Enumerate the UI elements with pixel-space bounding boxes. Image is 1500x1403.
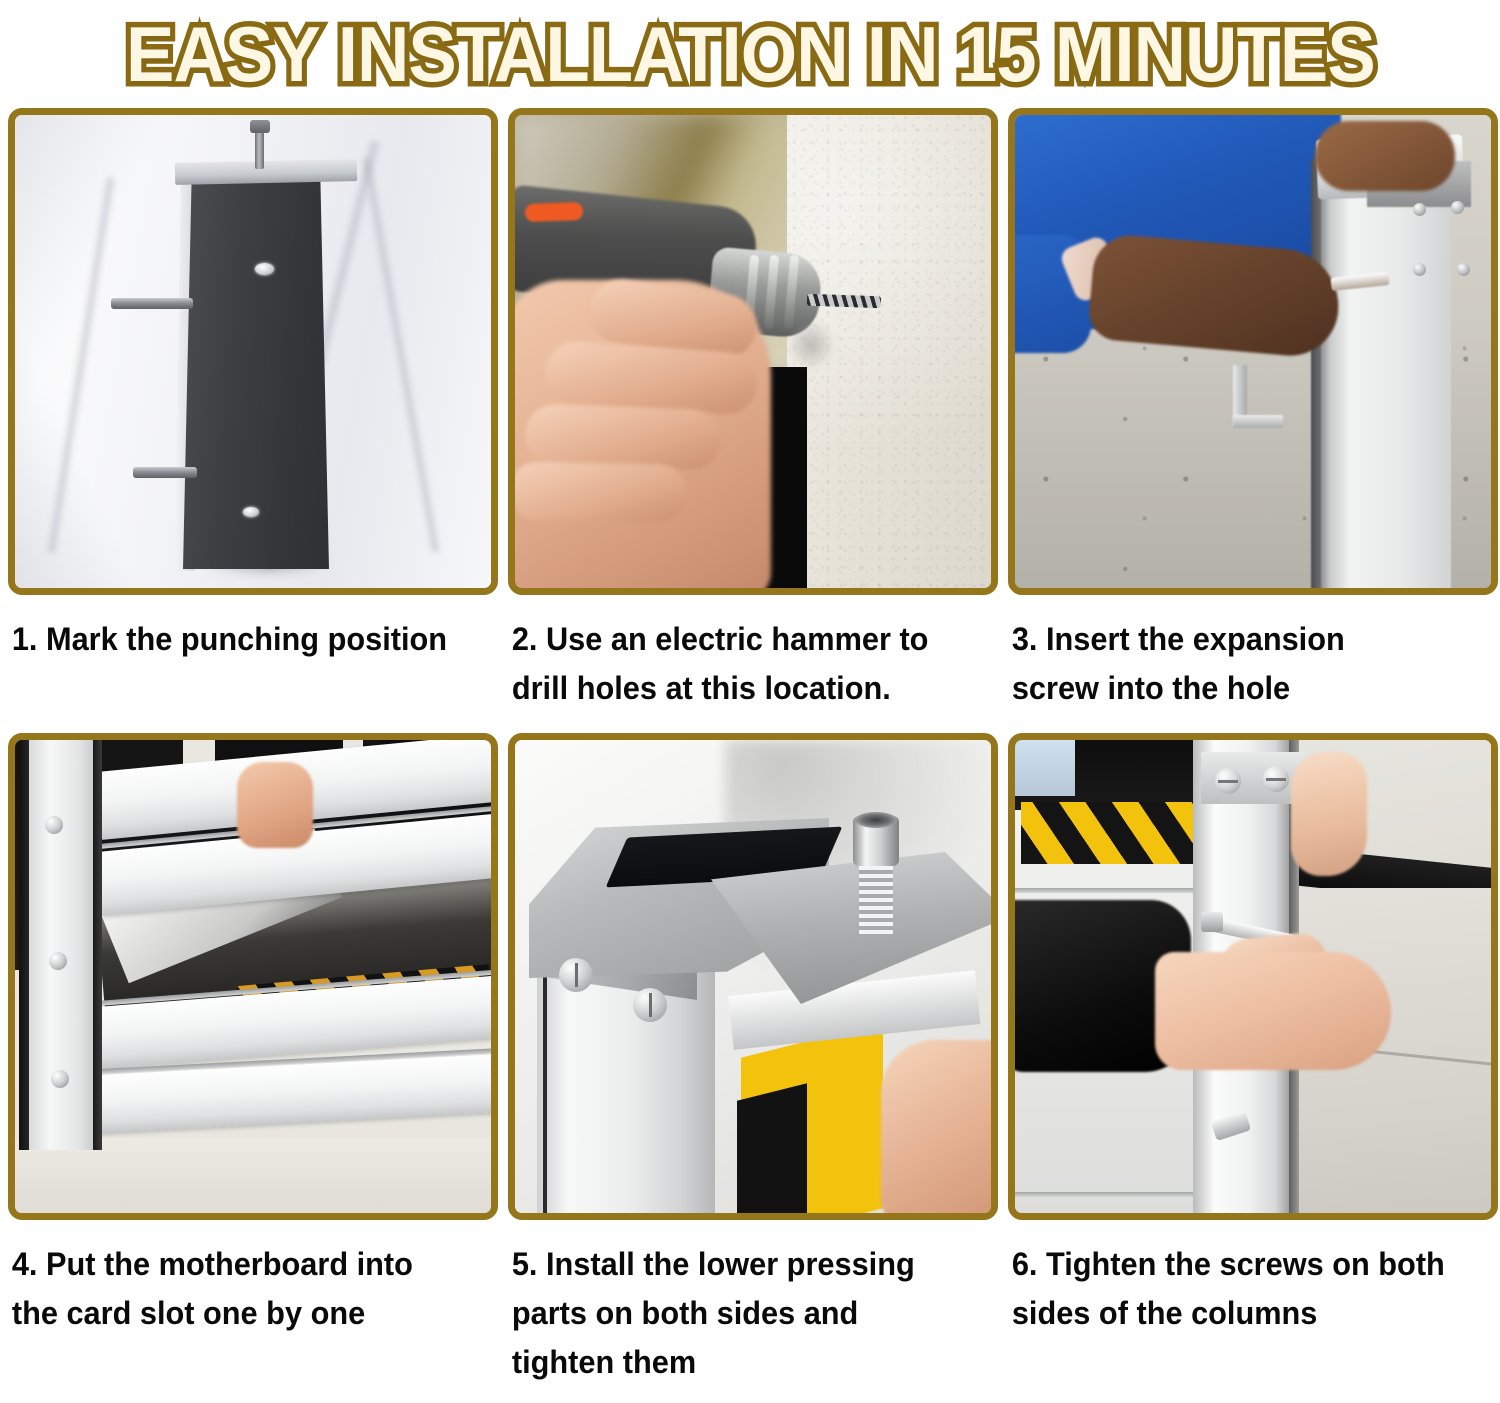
protruding-bolt-lower — [133, 467, 197, 478]
step-6-photo-frame — [1008, 733, 1498, 1220]
steps-row-1: 1. Mark the punching position — [8, 108, 1492, 733]
white-column — [1321, 147, 1451, 588]
step-3-photo-frame — [1008, 108, 1498, 595]
worker-upper-hand — [1315, 121, 1455, 191]
protruding-bolt-upper — [111, 298, 193, 309]
thumb-bolt-socket — [855, 812, 897, 828]
second-hand — [1291, 752, 1367, 876]
white-column — [29, 740, 99, 1150]
board-groove — [1015, 888, 1211, 893]
operator-hand — [237, 762, 313, 848]
step-5-caption: 5. Install the lower pressing parts on b… — [508, 1220, 978, 1388]
step-card-5: 5. Install the lower pressing parts on b… — [508, 733, 998, 1388]
background-highlight — [1015, 740, 1075, 796]
step-card-2: 2. Use an electric hammer to drill holes… — [508, 108, 998, 733]
step-1-photo-frame — [8, 108, 498, 595]
step-1-photo — [15, 115, 491, 588]
step-4-caption: 4. Put the motherboard into the card slo… — [8, 1220, 478, 1388]
expansion-screw — [1451, 201, 1464, 214]
rod-head — [250, 120, 270, 133]
drilling-dust — [787, 320, 835, 370]
thumb-bolt-thread — [859, 858, 893, 936]
expansion-screw — [1457, 263, 1470, 276]
hazard-stripe — [1021, 802, 1193, 864]
drill-trigger-accent — [525, 202, 584, 222]
step-4-photo — [15, 740, 491, 1213]
title-banner: EASY INSTALLATION IN 15 MINUTES — [0, 0, 1500, 108]
step-2-photo — [515, 115, 991, 588]
allen-wrench-arm — [1233, 415, 1283, 428]
column-screw — [1263, 766, 1289, 792]
steps-row-2: 4. Put the motherboard into the card slo… — [8, 733, 1492, 1388]
step-2-caption: 2. Use an electric hammer to drill holes… — [508, 595, 978, 733]
installation-steps-grid: 1. Mark the punching position — [0, 108, 1500, 1388]
column-inner-edge — [93, 740, 102, 1150]
marked-hole-lower — [243, 507, 259, 517]
step-card-4: 4. Put the motherboard into the card slo… — [8, 733, 498, 1388]
bracket-screw — [633, 988, 667, 1022]
step-3-caption: 3. Insert the expansion screw into the h… — [1008, 595, 1478, 733]
board-groove — [1015, 1192, 1211, 1197]
screwdriver-tip — [1201, 912, 1223, 932]
expansion-screw — [1413, 203, 1426, 216]
step-1-caption: 1. Mark the punching position — [8, 595, 478, 733]
step-5-photo — [515, 740, 991, 1213]
step-6-photo — [1015, 740, 1491, 1213]
step-4-photo-frame — [8, 733, 498, 1220]
column-screw — [51, 1070, 69, 1088]
finger — [524, 404, 722, 471]
expansion-screw — [1413, 263, 1426, 276]
bracket-screw — [559, 958, 593, 992]
operator-fingers — [881, 1040, 991, 1213]
column-screw — [45, 816, 63, 834]
hazard-stripe-black — [737, 1083, 807, 1213]
column-screw — [1215, 768, 1241, 794]
finger — [515, 461, 687, 522]
step-card-6: 6. Tighten the screws on both sides of t… — [1008, 733, 1498, 1388]
post-top-cap — [175, 159, 357, 185]
step-5-photo-frame — [508, 733, 998, 1220]
column-edge-line — [543, 952, 547, 1213]
step-card-1: 1. Mark the punching position — [8, 108, 498, 733]
marked-hole-upper — [255, 263, 274, 275]
column-screw — [49, 952, 67, 970]
step-card-3: 3. Insert the expansion screw into the h… — [1008, 108, 1498, 733]
drill-bit — [807, 294, 881, 309]
operator-hand — [1155, 952, 1391, 1070]
step-3-photo — [1015, 115, 1491, 588]
step-2-photo-frame — [508, 108, 998, 595]
page-title: EASY INSTALLATION IN 15 MINUTES — [126, 15, 1375, 93]
step-6-caption: 6. Tighten the screws on both sides of t… — [1008, 1220, 1478, 1388]
